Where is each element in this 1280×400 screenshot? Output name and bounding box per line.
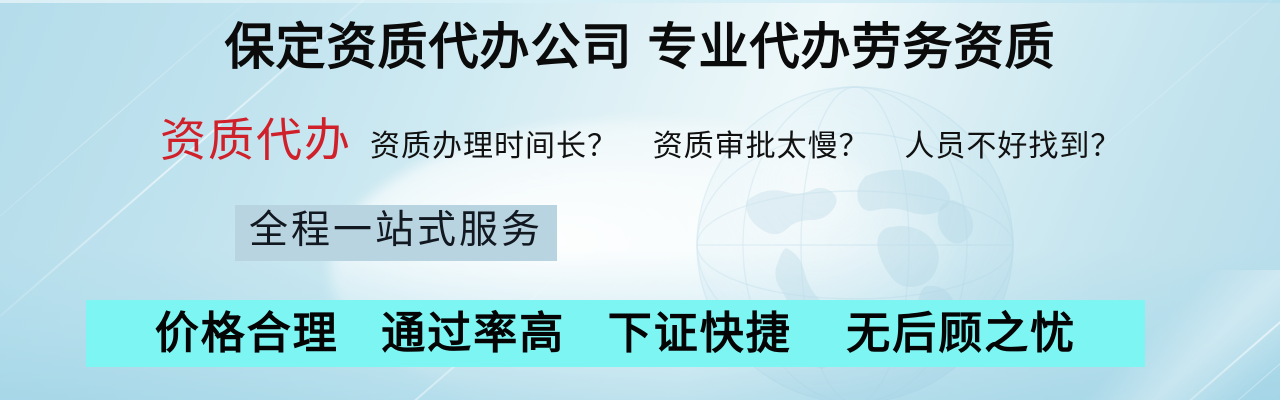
one-stop-service-badge: 全程一站式服务 bbox=[235, 205, 557, 261]
problem-row: 资质代办 资质办理时间长？ 资质审批太慢？ 人员不好找到？ bbox=[160, 112, 1121, 176]
promo-banner: 保定资质代办公司 专业代办劳务资质 资质代办 资质办理时间长？ 资质审批太慢？ … bbox=[0, 0, 1280, 400]
benefits-bar: 价格合理 通过率高 下证快捷 无后顾之忧 bbox=[86, 300, 1145, 367]
banner-headline: 保定资质代办公司 专业代办劳务资质 bbox=[0, 17, 1280, 77]
benefit-item-2: 通过率高 bbox=[381, 309, 565, 358]
benefit-item-1: 价格合理 bbox=[155, 309, 339, 358]
benefit-item-4: 无后顾之忧 bbox=[846, 309, 1076, 358]
benefits-list: 价格合理 通过率高 下证快捷 无后顾之忧 bbox=[155, 308, 1076, 360]
problem-item-2: 资质审批太慢？ bbox=[653, 130, 870, 163]
problem-item-3: 人员不好找到？ bbox=[904, 130, 1121, 163]
red-service-tag: 资质代办 bbox=[160, 112, 352, 170]
problem-item-1: 资质办理时间长？ bbox=[370, 130, 618, 163]
problem-list: 资质办理时间长？ 资质审批太慢？ 人员不好找到？ bbox=[370, 118, 1121, 176]
banner-content: 保定资质代办公司 专业代办劳务资质 资质代办 资质办理时间长？ 资质审批太慢？ … bbox=[0, 0, 1280, 400]
benefit-item-3: 下证快捷 bbox=[608, 309, 792, 358]
one-stop-service-wrapper: 全程一站式服务 bbox=[235, 205, 557, 261]
